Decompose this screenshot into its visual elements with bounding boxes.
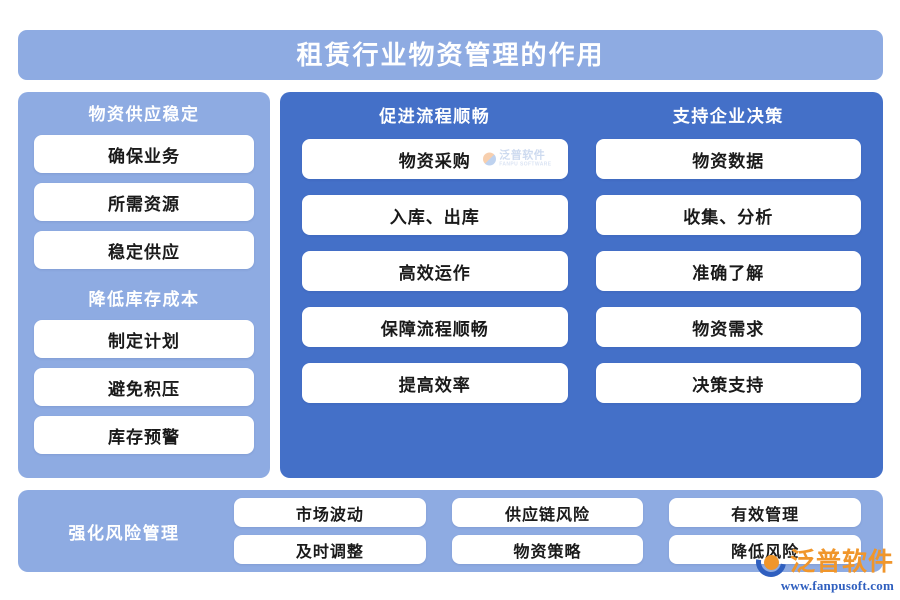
card-material-procurement-label: 物资采购 (399, 147, 471, 172)
card-improve-efficiency[interactable]: 提高效率 (302, 363, 568, 403)
bottom-panel: 强化风险管理 市场波动 及时调整 供应链风险 物资策略 有效管理 降低风险 (18, 490, 883, 572)
card-ensure-business[interactable]: 确保业务 (34, 135, 254, 173)
card-inbound-outbound[interactable]: 入库、出库 (302, 195, 568, 235)
watermark-logo-icon (483, 153, 496, 166)
card-effective-management[interactable]: 有效管理 (669, 498, 861, 527)
header-banner: 租赁行业物资管理的作用 (18, 30, 883, 80)
section-heading-risk-management: 强化风险管理 (36, 519, 212, 544)
card-guarantee-smooth-process[interactable]: 保障流程顺畅 (302, 307, 568, 347)
section-heading-supply-stability: 物资供应稳定 (34, 106, 254, 123)
card-required-resources[interactable]: 所需资源 (34, 183, 254, 221)
card-stable-supply[interactable]: 稳定供应 (34, 231, 254, 269)
section-heading-smooth-process: 促进流程顺畅 (302, 108, 568, 125)
card-material-data[interactable]: 物资数据 (596, 139, 862, 179)
watermark-cn: 泛普软件 (499, 151, 551, 162)
card-material-demand[interactable]: 物资需求 (596, 307, 862, 347)
watermark-en: FANPU SOFTWARE (499, 163, 551, 168)
page-title: 租赁行业物资管理的作用 (296, 42, 604, 68)
section-heading-reduce-inventory-cost: 降低库存成本 (34, 291, 254, 308)
watermark-text: 泛普软件 FANPU SOFTWARE (499, 151, 551, 168)
card-timely-adjustment[interactable]: 及时调整 (234, 535, 426, 564)
watermark-fanpu: 泛普软件 FANPU SOFTWARE (483, 151, 551, 168)
card-inventory-alert[interactable]: 库存预警 (34, 416, 254, 454)
brand-url: www.fanpusoft.com (781, 578, 894, 594)
bottom-card-groups: 市场波动 及时调整 供应链风险 物资策略 有效管理 降低风险 (234, 498, 861, 564)
card-collect-analyze[interactable]: 收集、分析 (596, 195, 862, 235)
mid-column-decision: 支持企业决策 物资数据 收集、分析 准确了解 物资需求 决策支持 (596, 108, 862, 464)
mid-column-process: 促进流程顺畅 物资采购 泛普软件 FANPU SOFTWARE 入库、出库 高效… (302, 108, 568, 464)
section-heading-support-decision: 支持企业决策 (596, 108, 862, 125)
card-market-fluctuation[interactable]: 市场波动 (234, 498, 426, 527)
card-make-plan[interactable]: 制定计划 (34, 320, 254, 358)
card-material-procurement[interactable]: 物资采购 泛普软件 FANPU SOFTWARE (302, 139, 568, 179)
card-supply-chain-risk[interactable]: 供应链风险 (452, 498, 644, 527)
card-efficient-operation[interactable]: 高效运作 (302, 251, 568, 291)
bottom-group-market: 市场波动 及时调整 (234, 498, 426, 564)
left-panel: 物资供应稳定 确保业务 所需资源 稳定供应 降低库存成本 制定计划 避免积压 库… (18, 92, 270, 478)
bottom-group-management: 有效管理 降低风险 (669, 498, 861, 564)
infographic-canvas: 租赁行业物资管理的作用 物资供应稳定 确保业务 所需资源 稳定供应 降低库存成本… (0, 0, 900, 600)
card-accurate-understanding[interactable]: 准确了解 (596, 251, 862, 291)
bottom-group-supply-chain: 供应链风险 物资策略 (452, 498, 644, 564)
card-reduce-risk[interactable]: 降低风险 (669, 535, 861, 564)
card-decision-support[interactable]: 决策支持 (596, 363, 862, 403)
middle-panel: 促进流程顺畅 物资采购 泛普软件 FANPU SOFTWARE 入库、出库 高效… (280, 92, 883, 478)
card-material-strategy[interactable]: 物资策略 (452, 535, 644, 564)
card-avoid-overstock[interactable]: 避免积压 (34, 368, 254, 406)
